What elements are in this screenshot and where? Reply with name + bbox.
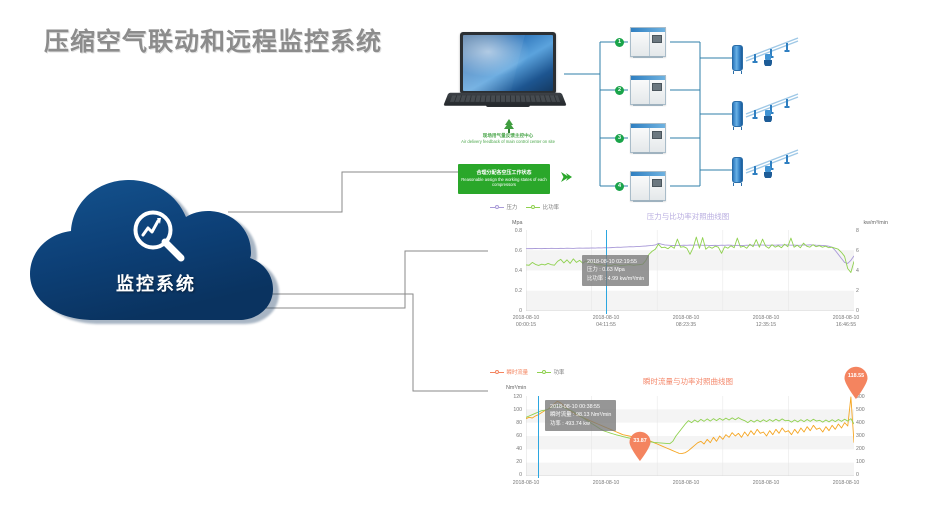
magnifier-chart-icon [127,206,189,268]
tooltip-line1: 压力 : 0.63 Mpa [587,266,644,274]
xtick-time: 04:11:55 [578,322,634,329]
chart2-y2tick: 200 [856,446,874,452]
chart1-xtick: 2018-08-10 04:11:55 [578,315,634,328]
flow-power-chart[interactable]: 瞬时流量 功率 瞬时流量与功率对照曲线图 Nm³/min 120 100 80 … [488,368,888,513]
chart1-xtick: 2018-08-10 12:35:15 [738,315,794,328]
chart1-ytick: 0.4 [502,268,522,274]
legend-marker-icon [490,370,504,374]
legend-item-pressure[interactable]: 压力 [490,203,517,211]
distribution-pipeline-icon [744,144,800,178]
pressure-power-chart[interactable]: 压力 比功率 压力与比功率对照曲线图 Mpa kw/m³/min 0.8 0.6… [488,203,888,331]
chart2-marker-pin[interactable]: 118.55 [843,366,869,404]
tooltip-time: 2018-08-10 02:19:55 [587,258,644,266]
chart1-y2tick: 2 [856,288,870,294]
legend-marker-icon [526,205,540,209]
chart2-ytick: 0 [500,472,522,478]
legend-marker-icon [537,370,551,374]
page-title: 压缩空气联动和远程监控系统 [44,22,382,58]
chart1-y-unit: Mpa [512,220,523,226]
chart1-plot-area[interactable] [526,230,854,311]
chart1-xtick: 2018-08-10 00:00:15 [498,315,554,328]
chart2-y-unit: Nm³/min [506,385,526,391]
air-tank-icon [732,45,743,71]
connector-line-3 [258,290,493,395]
node-indicator-4: 4 [615,182,624,191]
chart1-ytick: 0.8 [502,228,522,234]
compressor-unit [630,75,666,105]
chart1-ytick: 0 [502,308,522,314]
chart2-xtick: 2018-08-10 [498,480,554,487]
chart1-y2tick: 6 [856,248,870,254]
legend-label: 瞬时流量 [507,368,529,376]
chart2-title: 瞬时流量与功率对照曲线图 [488,376,888,387]
compressor-unit [630,27,666,57]
xtick-time: 16:46:55 [818,322,874,329]
chart2-cursor-line [538,396,539,478]
monitoring-cloud[interactable]: 监控系统 [22,178,290,330]
chart1-y2-unit: kw/m³/min [863,220,888,226]
chart2-ytick: 60 [500,433,522,439]
chart1-legend: 压力 比功率 [490,203,559,211]
chart1-ytick: 0.6 [502,248,522,254]
xtick-time: 12:35:15 [738,322,794,329]
distribution-pipeline-icon [744,88,800,122]
chart1-title: 压力与比功率对照曲线图 [488,211,888,222]
chart2-legend: 瞬时流量 功率 [490,368,564,376]
compressor-unit [630,123,666,153]
pin-label: 118.55 [843,373,869,379]
map-pin-icon [843,366,869,399]
map-pin-icon [628,431,652,461]
chart1-y2tick: 0 [856,308,870,314]
chart2-xtick: 2018-08-10 [658,480,714,487]
legend-item-specific-power[interactable]: 比功率 [526,203,559,211]
chart2-y2tick: 500 [856,407,874,413]
node-indicator-2: 2 [615,86,624,95]
chart1-y2tick: 4 [856,268,870,274]
chart1-xtick: 2018-08-10 16:46:55 [818,315,874,328]
chart2-marker-pin[interactable]: 33.87 [628,431,652,466]
chart1-y2tick: 8 [856,228,870,234]
legend-item-flow[interactable]: 瞬时流量 [490,368,528,376]
chart2-xtick: 2018-08-10 [578,480,634,487]
chart1-tooltip: 2018-08-10 02:19:55 压力 : 0.63 Mpa 比功率 : … [582,255,649,286]
chart2-xtick: 2018-08-10 [738,480,794,487]
xtick-time: 00:00:15 [498,322,554,329]
distribution-pipeline-icon [744,32,800,66]
legend-marker-icon [490,205,504,209]
tooltip-line2: 功率 : 493.74 kw [550,420,611,428]
node-indicator-3: 3 [615,134,624,143]
legend-label: 功率 [554,368,565,376]
chart1-ytick: 0.2 [502,288,522,294]
xtick-time: 08:23:35 [658,322,714,329]
chart2-y2tick: 300 [856,433,874,439]
chart1-xtick: 2018-08-10 08:23:35 [658,315,714,328]
tooltip-line1: 瞬时流量 : 98.13 Nm³/min [550,411,611,419]
node-indicator-1: 1 [615,38,624,47]
air-tank-icon [732,101,743,127]
legend-label: 比功率 [543,203,559,211]
chart2-y2tick: 100 [856,459,874,465]
compressor-unit [630,171,666,201]
chart2-ytick: 20 [500,459,522,465]
tooltip-line2: 比功率 : 4.99 kw/m³/min [587,275,644,283]
legend-item-power[interactable]: 功率 [537,368,564,376]
chart2-y2tick: 0 [856,472,874,478]
chart2-ytick: 80 [500,420,522,426]
chart2-ytick: 40 [500,446,522,452]
legend-label: 压力 [507,203,518,211]
tooltip-time: 2018-08-10 00:38:55 [550,403,611,411]
slide-root: 压缩空气联动和远程监控系统 [0,0,945,529]
chart2-ytick: 100 [500,407,522,413]
pin-label: 33.87 [628,438,652,444]
cloud-label: 监控系统 [22,270,290,296]
air-tank-icon [732,157,743,183]
chart2-tooltip: 2018-08-10 00:38:55 瞬时流量 : 98.13 Nm³/min… [545,400,616,431]
chart2-y2tick: 400 [856,420,874,426]
system-diagram: 现场用气量反馈主控中心 Air delivery feedback of mai… [432,18,942,206]
chart2-ytick: 120 [500,394,522,400]
chart2-xtick: 2018-08-10 [818,480,874,487]
